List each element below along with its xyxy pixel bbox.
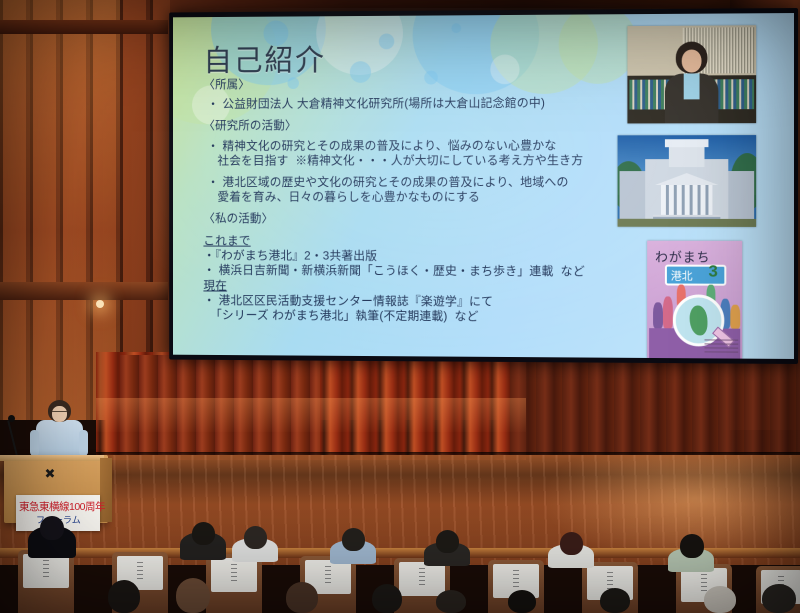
microphone-icon: [8, 415, 15, 422]
slide-line-past-heading: これまで: [203, 234, 250, 249]
audience-member-head: [436, 530, 459, 553]
audience-member-head: [560, 532, 583, 555]
book-title: わがまち: [655, 247, 710, 266]
slide-line-activities-1b: 社会を目指す ※精神文化・・・人が大切にしている考え方や生き方: [207, 153, 583, 168]
audience: [0, 520, 800, 613]
theater-seat: [206, 554, 262, 613]
audience-member-head: [600, 588, 630, 613]
audience-member-head: [176, 578, 210, 613]
projection-screen: 自己紹介 〈所属〉 ・ 公益財団法人 大倉精神文化研究所(場所は大倉山記念館の中…: [169, 8, 798, 364]
slide-line-my-activity-heading: 〈私の活動〉: [203, 211, 273, 226]
wall-lamp-icon: [96, 300, 104, 308]
audience-member-head: [40, 516, 64, 540]
slide-line-past-item-1: ・『わがまち港北』2・3共著出版: [203, 248, 377, 263]
slide-line-present-item-1a: ・ 港北区区民活動支援センター情報誌『楽遊学』にて: [203, 293, 493, 309]
wall-upper-beam: [0, 20, 168, 34]
audience-member-head: [108, 580, 140, 613]
audience-member-head: [508, 590, 536, 613]
audience-member-head: [244, 526, 267, 549]
audience-member-head: [286, 582, 318, 613]
wall-lower-beam: [0, 282, 168, 300]
book-subtitle: 港北: [671, 268, 693, 284]
audience-member-head: [192, 522, 215, 545]
audience-member-head: [372, 584, 402, 613]
auditorium-scene: 自己紹介 〈所属〉 ・ 公益財団法人 大倉精神文化研究所(場所は大倉山記念館の中…: [0, 0, 800, 613]
podium-banner-line1: 東急東横線100周年: [19, 499, 105, 514]
slide-title: 自己紹介: [203, 36, 325, 80]
book-cover-photo: わがまち 港北 3: [647, 241, 742, 359]
podium-top-surface: [0, 455, 104, 461]
curtain-light-sheen: [96, 398, 526, 432]
audience-member-head: [704, 586, 736, 613]
stage-curtain-right: [510, 352, 800, 456]
audience-member-head: [436, 590, 466, 613]
slide-line-past-item-2: ・ 横浜日吉新聞・新横浜新聞「こうほく・歴史・まち歩き」連載 など: [203, 263, 585, 279]
slide-line-activities-heading: 〈研究所の活動〉: [203, 118, 296, 133]
projected-slide: 自己紹介 〈所属〉 ・ 公益財団法人 大倉精神文化研究所(場所は大倉山記念館の中…: [173, 13, 794, 359]
speaker-portrait-photo: [627, 25, 756, 123]
audience-member-head: [762, 584, 796, 613]
slide-line-activities-2b: 愛着を育み、日々の暮らしを心豊かなものにする: [207, 190, 480, 205]
audience-member-head: [342, 528, 365, 551]
audience-member-head: [680, 534, 704, 558]
slide-line-activities-2a: ・ 港北区域の歴史や文化の研究とその成果の普及により、地域への: [207, 175, 568, 190]
podium-logo-icon: ✖: [44, 468, 56, 480]
book-volume-number: 3: [708, 262, 717, 282]
slide-line-present-item-1b: 「シリーズ わがまち港北」執筆(不定期連載) など: [203, 308, 478, 324]
microphone-stand: [7, 420, 19, 459]
slide-line-affiliation-item: ・ 公益財団法人 大倉精神文化研究所(場所は大倉山記念館の中): [207, 96, 545, 112]
slide-line-present-heading: 現在: [203, 279, 227, 294]
theater-seat: [18, 550, 74, 613]
slide-line-activities-1a: ・ 精神文化の研究とその成果の普及により、悩みのない心豊かな: [207, 138, 556, 153]
slide-line-affiliation-heading: 〈所属〉: [203, 77, 250, 92]
okurayama-memorial-hall-photo: [618, 135, 757, 227]
